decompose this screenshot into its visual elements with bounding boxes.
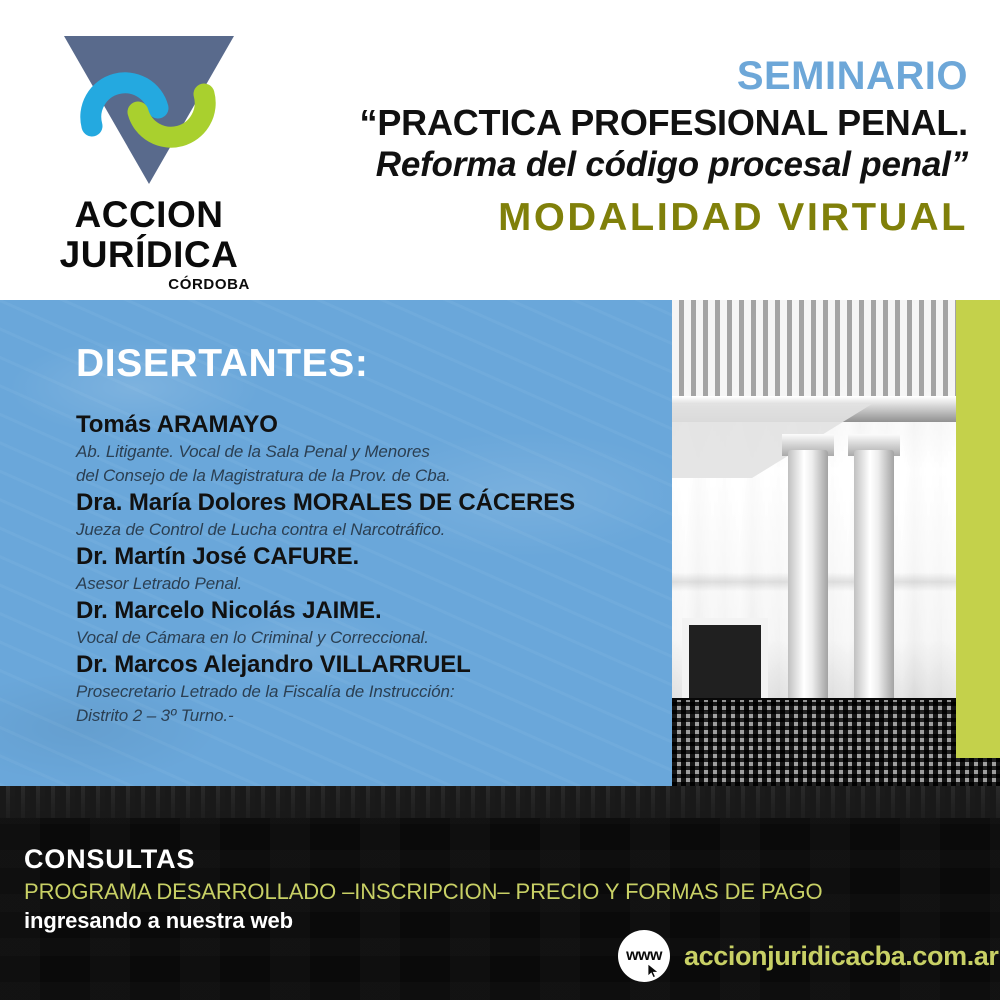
contact-heading: CONSULTAS <box>24 844 195 874</box>
speaker-entry: Tomás ARAMAYO Ab. Litigante. Vocal de la… <box>76 410 636 488</box>
event-modality: MODALIDAD VIRTUAL <box>254 196 968 240</box>
footer-photo-band <box>0 786 1000 818</box>
photo-cornice <box>672 300 1000 396</box>
speakers-heading: DISERTANTES: <box>76 342 368 386</box>
brand-city: CÓRDOBA <box>24 276 274 293</box>
www-globe-icon: www <box>618 930 670 982</box>
brand-line-1: ACCION <box>24 195 274 235</box>
brand-logo: ACCION JURÍDICA CÓRDOBA <box>24 20 274 285</box>
speaker-role-line: Asesor Letrado Penal. <box>76 572 636 596</box>
speaker-name: Dr. Marcos Alejandro VILLARRUEL <box>76 650 636 680</box>
courthouse-photo <box>672 300 1000 786</box>
speaker-name: Tomás ARAMAYO <box>76 410 636 440</box>
speaker-entry: Dr. Martín José CAFURE. Asesor Letrado P… <box>76 542 636 596</box>
speaker-role-line: Distrito 2 – 3º Turno.- <box>76 704 636 728</box>
photo-balcony <box>672 700 1000 786</box>
poster-header: ACCION JURÍDICA CÓRDOBA SEMINARIO “PRACT… <box>0 0 1000 300</box>
logo-arcs-icon <box>64 48 234 158</box>
brand-wordmark: ACCION JURÍDICA CÓRDOBA <box>24 195 274 293</box>
speaker-name: Dr. Marcelo Nicolás JAIME. <box>76 596 636 626</box>
speaker-entry: Dra. María Dolores MORALES DE CÁCERES Ju… <box>76 488 636 542</box>
website-link[interactable]: www accionjuridicacba.com.ar <box>618 930 999 982</box>
contact-cta-line: ingresando a nuestra web <box>24 907 293 935</box>
event-title-main: “PRACTICA PROFESIONAL PENAL. <box>268 102 968 144</box>
poster-root: ACCION JURÍDICA CÓRDOBA SEMINARIO “PRACT… <box>0 0 1000 1000</box>
speaker-role-line: Prosecretario Letrado de la Fiscalía de … <box>76 680 636 704</box>
contact-info-line: PROGRAMA DESARROLLADO –INSCRIPCION– PREC… <box>24 878 823 906</box>
event-title-sub: Reforma del código procesal penal” <box>268 144 968 186</box>
speaker-entry: Dr. Marcelo Nicolás JAIME. Vocal de Cáma… <box>76 596 636 650</box>
header-titles: SEMINARIO “PRACTICA PROFESIONAL PENAL. R… <box>268 54 968 240</box>
accent-green-strip <box>956 300 1000 758</box>
speaker-role-line: del Consejo de la Magistratura de la Pro… <box>76 464 636 488</box>
speaker-name: Dra. María Dolores MORALES DE CÁCERES <box>76 488 636 518</box>
photo-column <box>854 450 894 700</box>
blue-overlay-panel: DISERTANTES: Tomás ARAMAYO Ab. Litigante… <box>0 300 672 786</box>
event-type-eyebrow: SEMINARIO <box>268 54 968 98</box>
speaker-role-line: Vocal de Cámara en lo Criminal y Correcc… <box>76 626 636 650</box>
speaker-role-line: Ab. Litigante. Vocal de la Sala Penal y … <box>76 440 636 464</box>
speakers-list: Tomás ARAMAYO Ab. Litigante. Vocal de la… <box>76 410 636 728</box>
poster-footer: CONSULTAS PROGRAMA DESARROLLADO –INSCRIP… <box>0 818 1000 1000</box>
speaker-entry: Dr. Marcos Alejandro VILLARRUEL Prosecre… <box>76 650 636 728</box>
brand-line-2: JURÍDICA <box>24 235 274 275</box>
speaker-name: Dr. Martín José CAFURE. <box>76 542 636 572</box>
photo-column <box>788 450 828 700</box>
website-url-text[interactable]: accionjuridicacba.com.ar <box>684 941 999 971</box>
photo-pediment <box>662 404 872 478</box>
speaker-role-line: Jueza de Control de Lucha contra el Narc… <box>76 518 636 542</box>
mouse-cursor-icon <box>647 963 660 979</box>
speakers-band: DISERTANTES: Tomás ARAMAYO Ab. Litigante… <box>0 300 1000 786</box>
